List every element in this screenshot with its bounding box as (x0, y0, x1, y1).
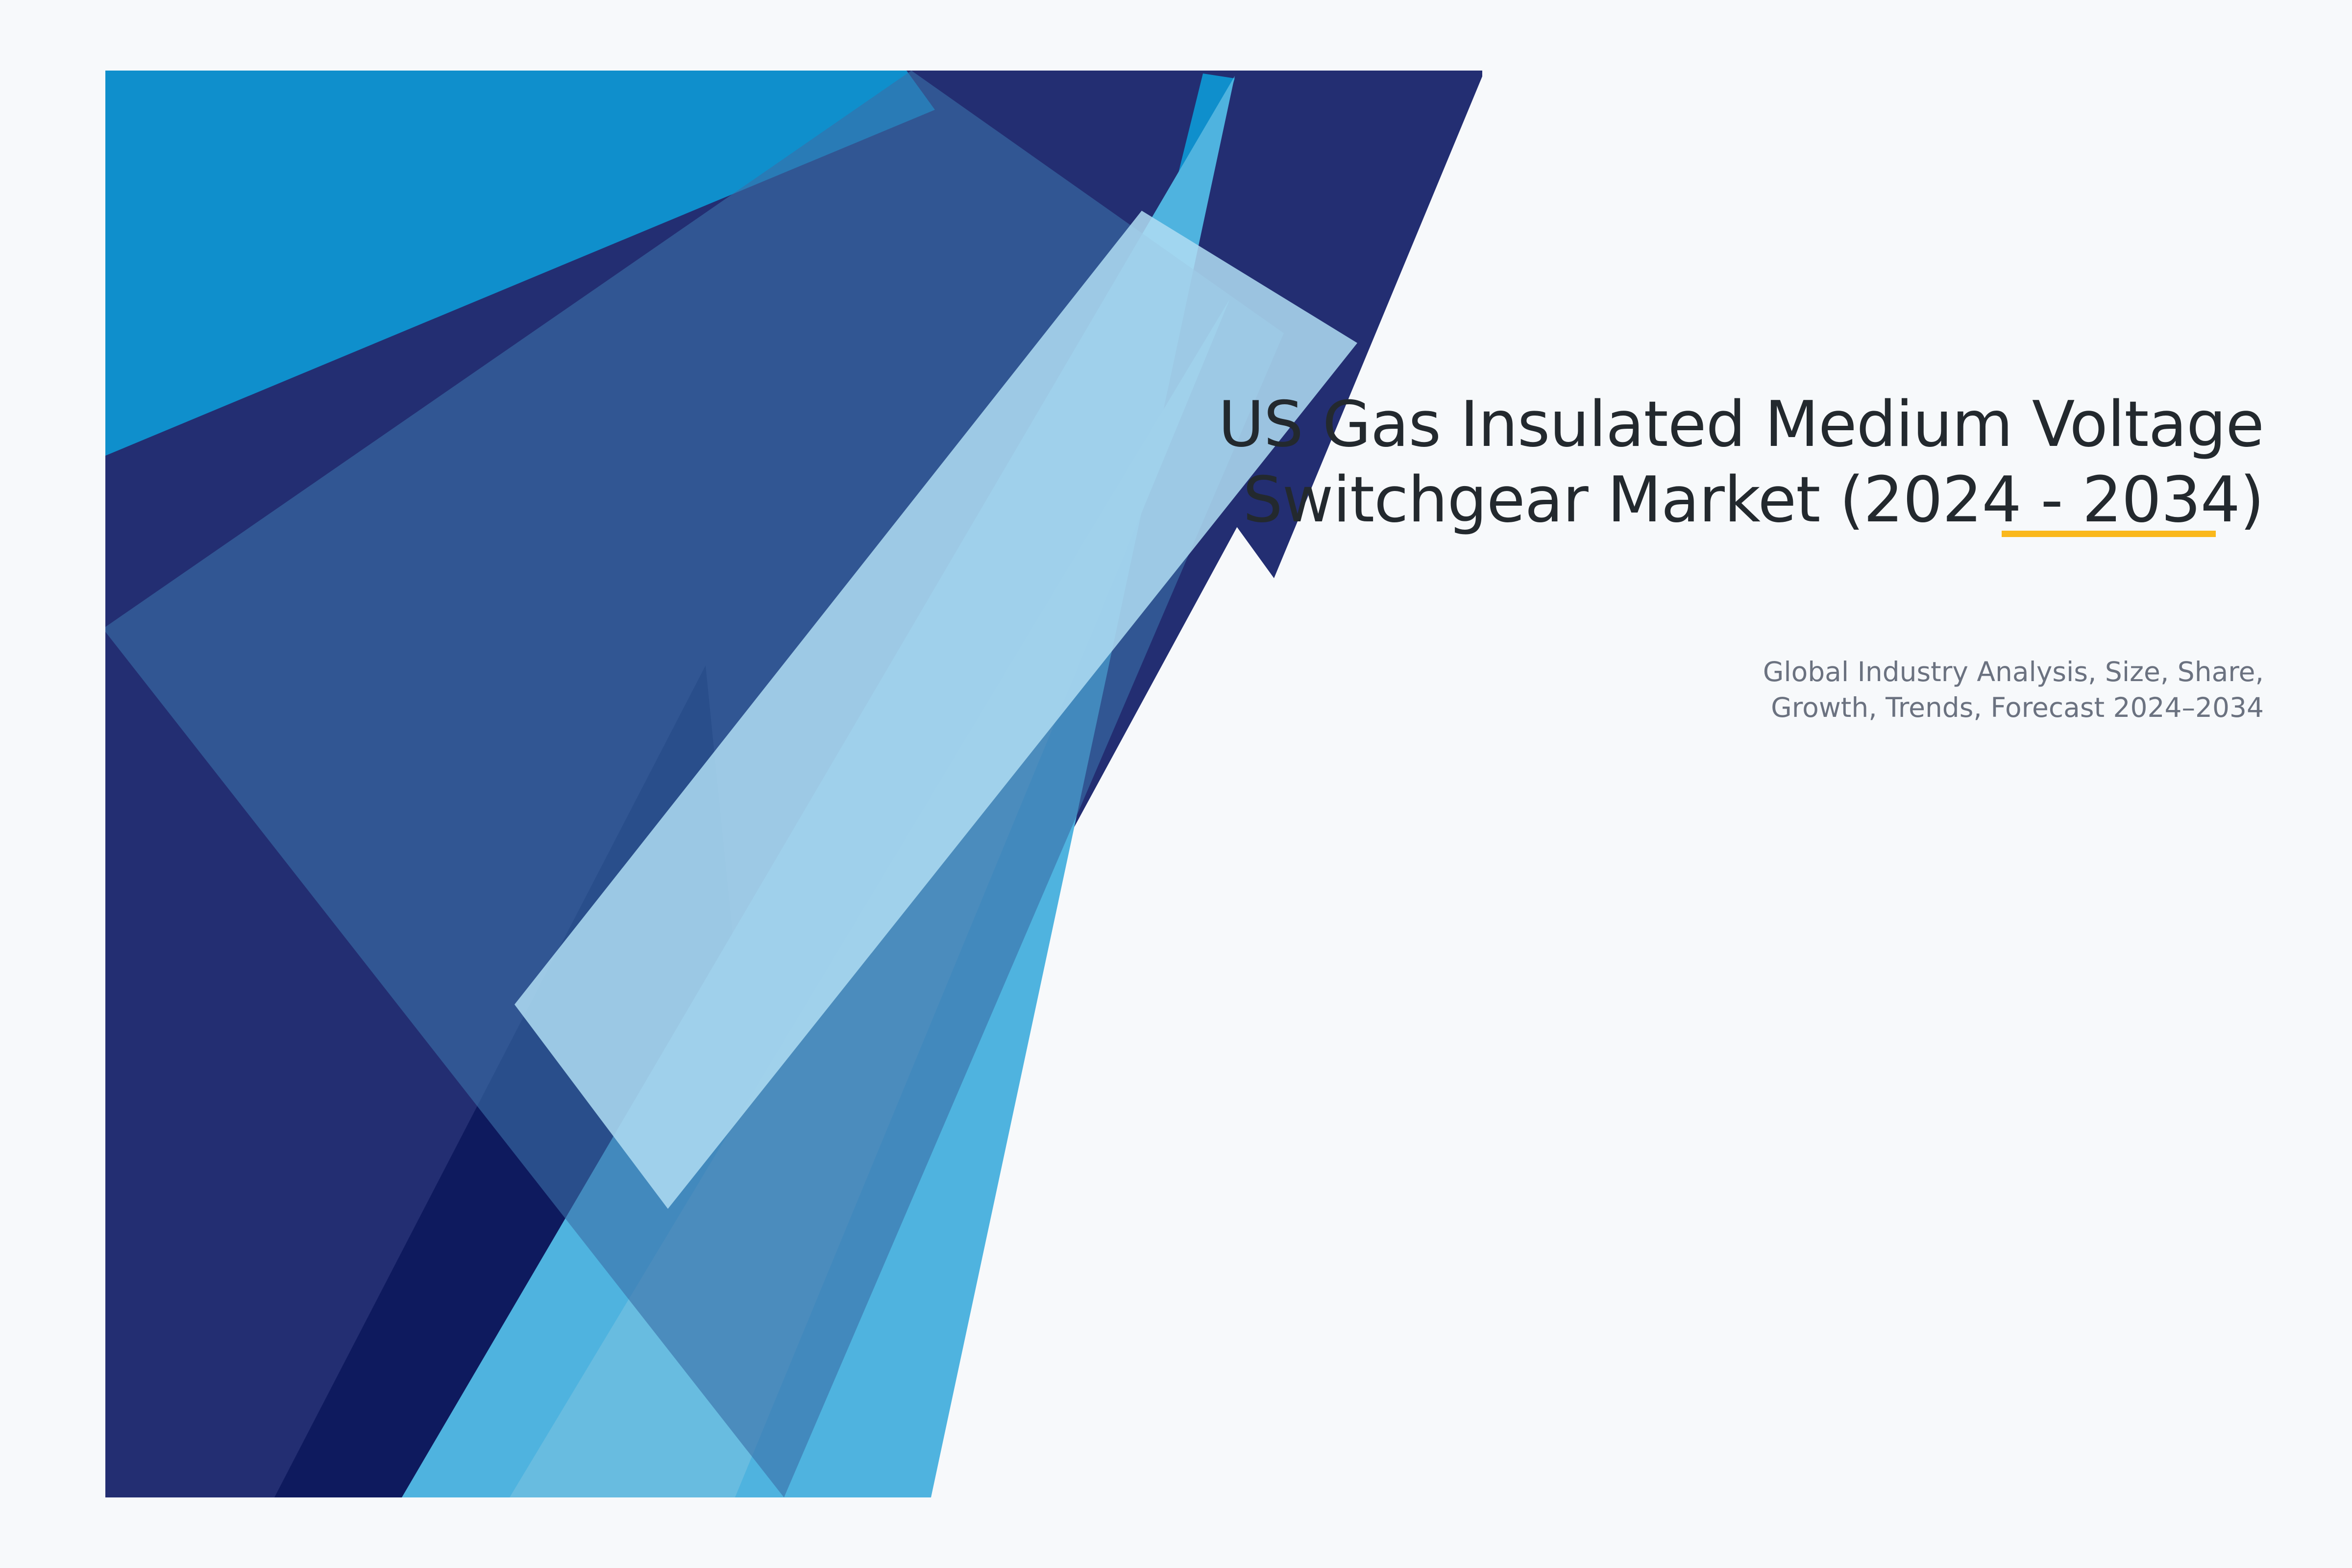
cover-title-block: US Gas Insulated Medium Voltage Switchge… (931, 387, 2264, 538)
geometric-cover-graphic (0, 0, 2352, 1568)
page-title: US Gas Insulated Medium Voltage Switchge… (931, 387, 2264, 538)
report-cover-page: US Gas Insulated Medium Voltage Switchge… (0, 0, 2352, 1568)
page-subtitle: Global Industry Analysis, Size, Share, G… (1421, 654, 2264, 725)
title-underline (2002, 531, 2216, 537)
